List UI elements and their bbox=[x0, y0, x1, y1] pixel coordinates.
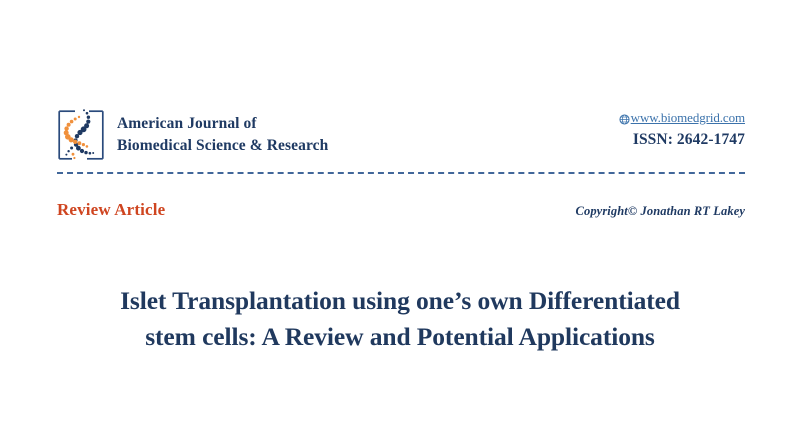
article-type-label: Review Article bbox=[57, 200, 165, 220]
copyright-label: Copyright© Jonathan RT Lakey bbox=[576, 204, 745, 219]
journal-brand: American Journal of Biomedical Science &… bbox=[57, 108, 328, 162]
journal-title: American Journal of Biomedical Science &… bbox=[117, 113, 328, 157]
page-title: Islet Transplantation using one’s own Di… bbox=[60, 283, 740, 355]
globe-icon bbox=[619, 114, 630, 125]
article-header-page: American Journal of Biomedical Science &… bbox=[0, 0, 800, 440]
dna-helix-logo-icon bbox=[57, 108, 105, 162]
masthead: American Journal of Biomedical Science &… bbox=[57, 108, 745, 166]
website-link[interactable]: www.biomedgrid.com bbox=[619, 111, 745, 126]
article-meta-row: Review Article Copyright© Jonathan RT La… bbox=[57, 200, 745, 220]
header-divider bbox=[57, 172, 745, 174]
masthead-right: www.biomedgrid.com ISSN: 2642-1747 bbox=[619, 108, 745, 151]
issn-label: ISSN: 2642-1747 bbox=[619, 129, 745, 151]
website-url-text: www.biomedgrid.com bbox=[631, 111, 745, 126]
